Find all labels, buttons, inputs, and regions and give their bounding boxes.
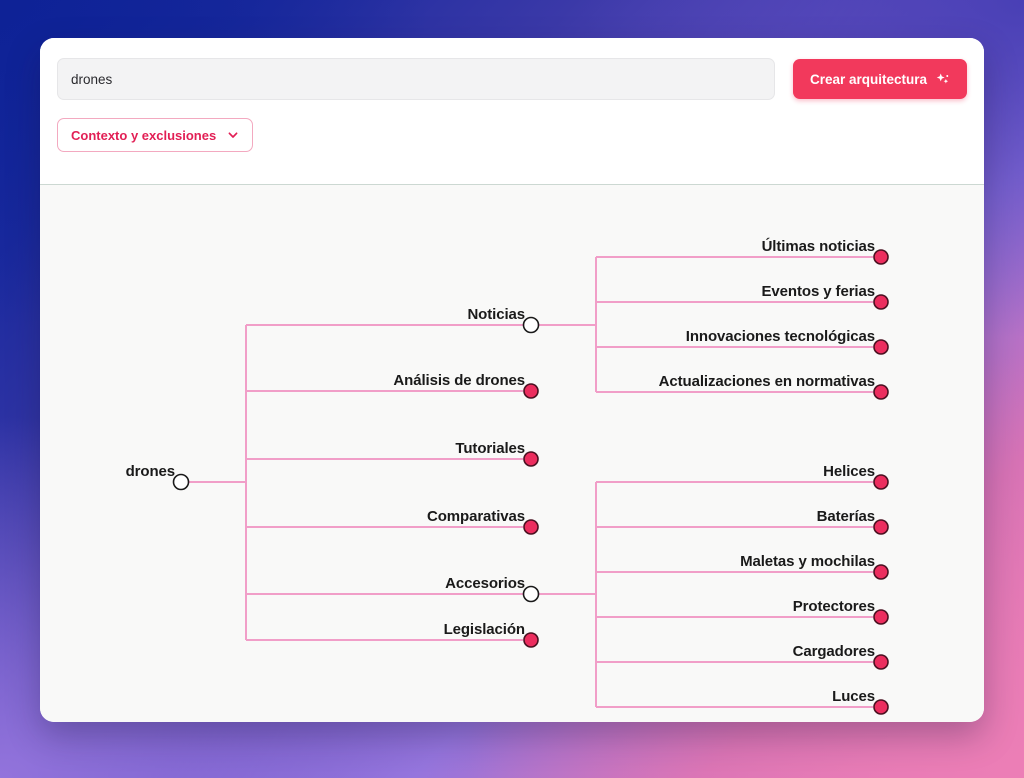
toolbar-bottom-row: Contexto y exclusiones	[57, 118, 967, 152]
tree-node-dot-layer	[40, 185, 984, 721]
chevron-down-icon	[227, 129, 239, 141]
tree-canvas[interactable]: dronesNoticiasÚltimas noticiasEventos y …	[40, 185, 984, 722]
context-and-exclusions-button[interactable]: Contexto y exclusiones	[57, 118, 253, 152]
create-architecture-button-label: Crear arquitectura	[810, 72, 927, 87]
toolbar-top-row: Crear arquitectura	[57, 58, 967, 100]
create-architecture-button[interactable]: Crear arquitectura	[793, 59, 967, 99]
search-input[interactable]	[57, 58, 775, 100]
context-and-exclusions-label: Contexto y exclusiones	[71, 128, 216, 143]
app-window: Crear arquitectura Contexto y exclusione…	[40, 38, 984, 722]
sparkles-icon	[935, 72, 950, 87]
app-background: Crear arquitectura Contexto y exclusione…	[0, 0, 1024, 778]
toolbar: Crear arquitectura Contexto y exclusione…	[40, 38, 984, 185]
